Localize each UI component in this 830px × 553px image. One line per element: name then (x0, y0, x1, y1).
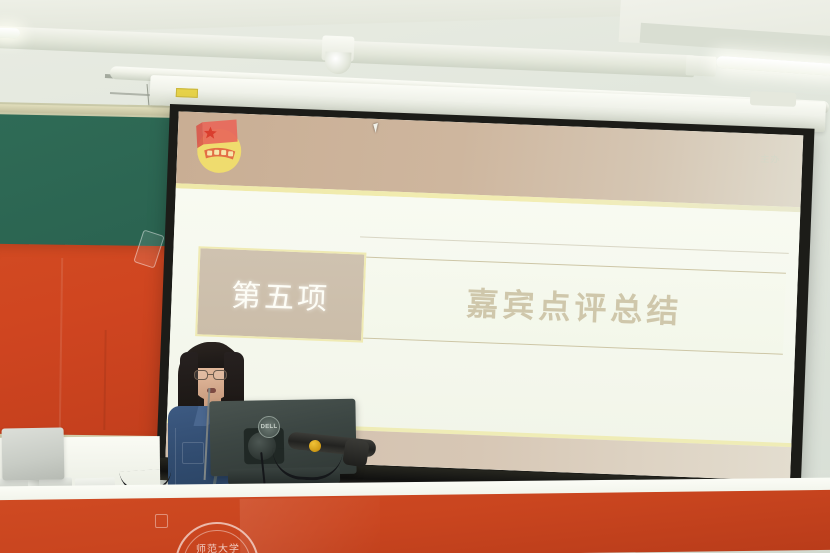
dell-logo-text: DELL (261, 424, 278, 430)
university-seal-text: 师范大学 (178, 540, 258, 553)
apple-logo-icon (24, 448, 35, 461)
red-cloth-banner (0, 244, 175, 437)
table-skirt-stamp (155, 514, 168, 528)
fluorescent-tube-light-left (0, 28, 20, 39)
communist-youth-league-emblem (190, 114, 250, 178)
slide-corner-text: 主办 (760, 154, 780, 165)
jacket-pocket (182, 442, 204, 464)
eyeglasses-bridge (208, 374, 213, 375)
slide-section-tag-text: 第五项 (230, 271, 331, 319)
slide-title-band: 嘉宾点评总结 (363, 257, 786, 355)
housing-warning-label (176, 88, 198, 98)
eyeglasses-left-lens (194, 370, 208, 380)
lecture-hall-photo: 主办 第五项 嘉宾点评总结 (0, 0, 830, 553)
slide-title-text: 嘉宾点评总结 (466, 279, 684, 333)
housing-ceiling-mount (750, 91, 797, 107)
eyeglasses-right-lens (213, 370, 227, 380)
slide-section-tag-box: 第五项 (195, 246, 366, 342)
ceiling-junction-box (685, 55, 716, 77)
red-table-skirt (0, 490, 830, 553)
table-skirt-sheen (240, 497, 381, 553)
monitor-arm-joint (342, 438, 370, 467)
